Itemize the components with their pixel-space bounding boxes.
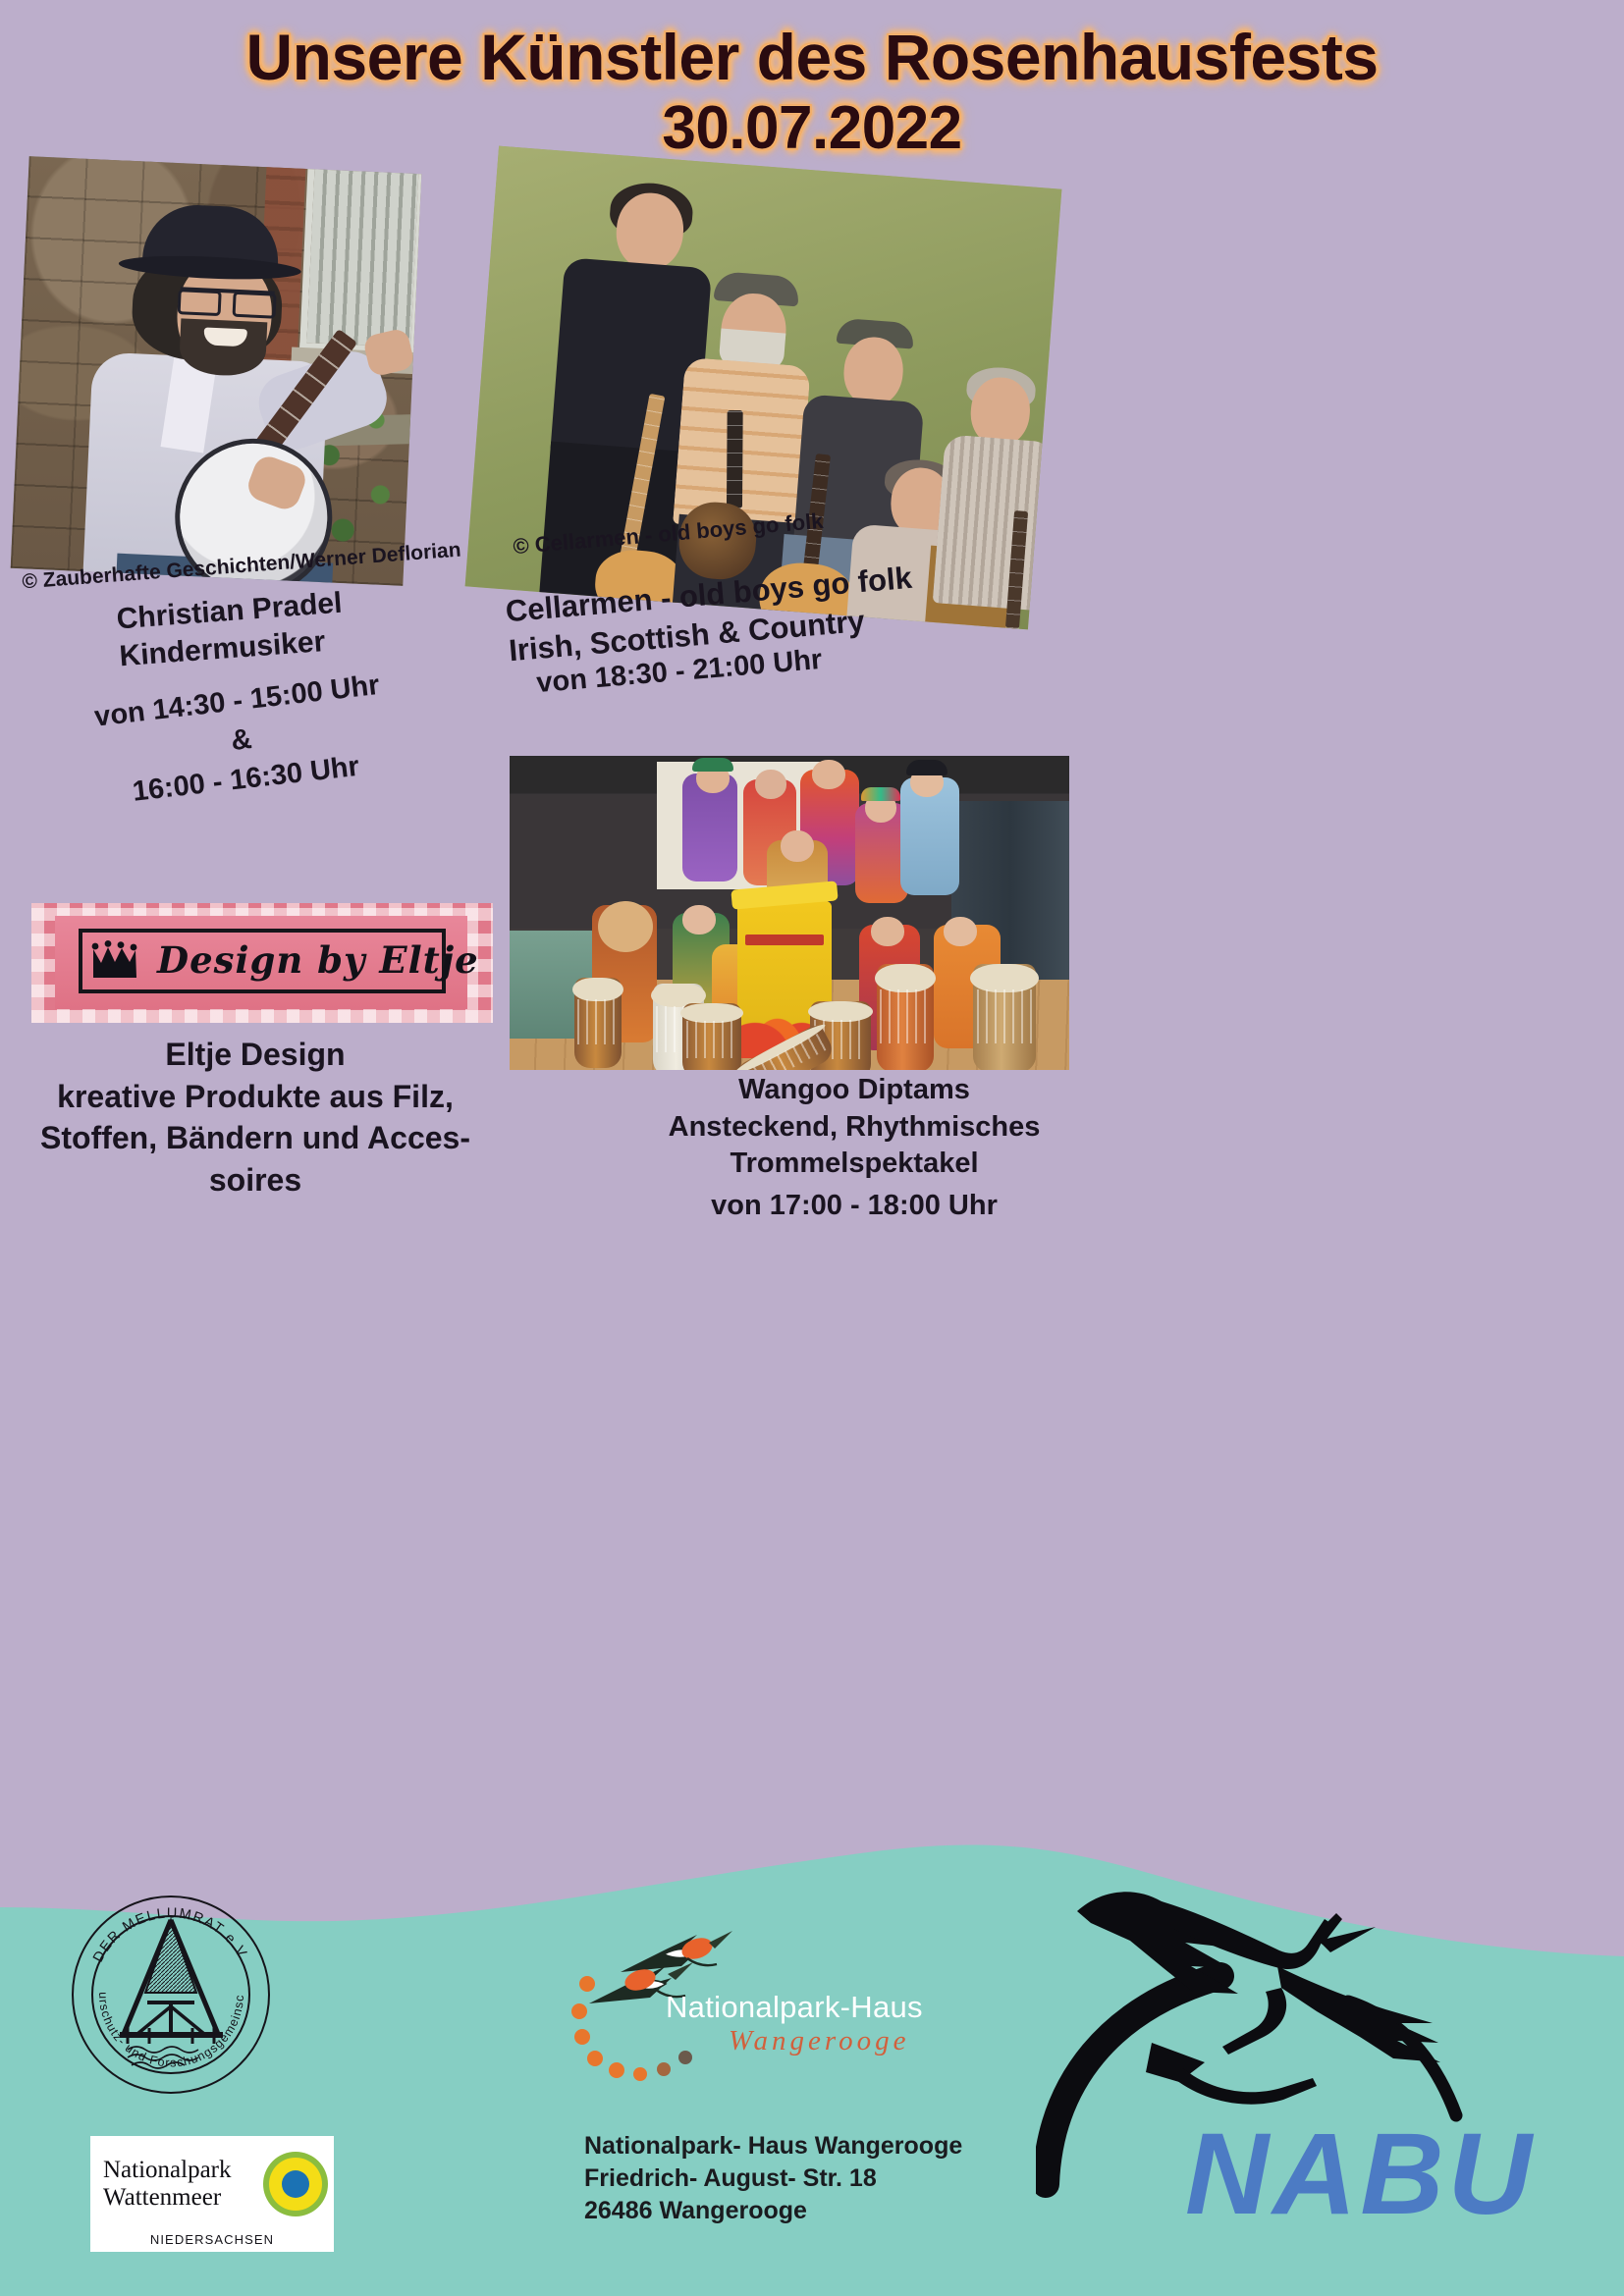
artist-name-christian-pradel: Christian PradelKindermusiker	[115, 585, 346, 676]
wattenmeer-name: Nationalpark Wattenmeer	[90, 2157, 232, 2212]
artist-name-wangoo-diptams: Wangoo DiptamsAnsteckend, Rhythmisches T…	[648, 1072, 1060, 1183]
performer-back-3-head	[812, 760, 845, 789]
musician-5-striped-shirt	[933, 434, 1056, 611]
artist-role-text: Ansteckend, Rhythmisches Trommelspektake…	[669, 1111, 1041, 1180]
artist-times-wangoo-diptams: von 17:00 - 18:00 Uhr	[648, 1190, 1060, 1222]
wattenmeer-emblem-core	[282, 2170, 309, 2198]
wattenmeer-emblem-icon	[263, 2152, 328, 2216]
artist-times-christian-pradel: von 14:30 - 15:00 Uhr & 16:00 - 16:30 Uh…	[92, 666, 390, 815]
performer-back-1-hat	[692, 758, 733, 772]
performer-front-1-hair	[598, 901, 653, 952]
artist-name-text: Wangoo Diptams	[738, 1074, 970, 1105]
logo-mellumrat: DER MELLUMRAT e.V. - Naturschutz- und Fo…	[71, 1895, 272, 2096]
nabu-wordmark: NABU	[1185, 2108, 1536, 2241]
poster-title: Unsere Künstler des Rosenhausfests 30.07…	[0, 22, 1624, 162]
djembe-1	[574, 978, 622, 1068]
conga-drum	[973, 964, 1036, 1070]
crown-icon	[90, 940, 147, 980]
photo-wangoo-diptams	[510, 756, 1069, 1070]
artist-name-eltje-design: Eltje Designkreative Produkte aus Filz, …	[20, 1034, 491, 1201]
performer-back-4-beanie	[861, 787, 900, 801]
window-shutters	[299, 163, 421, 354]
mandolin-neck	[727, 410, 743, 508]
logo-nabu: NABU	[1036, 1850, 1586, 2263]
nph-logo-line-2: Wangerooge	[729, 2025, 909, 2057]
page-title-line-1: Unsere Künstler des Rosenhausfests	[0, 22, 1624, 94]
oystercatcher-bird-icon-1	[621, 1931, 732, 1972]
footer-address: Nationalpark- Haus Wangerooge Friedrich-…	[584, 2130, 962, 2227]
photo-eltje-design-label: Design by Eltje	[31, 903, 493, 1023]
performer-back-5-beanie	[906, 760, 947, 775]
performer-mid-1-head	[781, 830, 814, 862]
glasses-icon	[180, 287, 275, 308]
stork-icon	[1077, 1892, 1440, 2104]
label-text: Design by Eltje	[157, 938, 479, 982]
performer-back-2-head	[755, 770, 786, 799]
bin-url-strip	[745, 934, 824, 945]
photo-christian-pradel	[11, 156, 422, 586]
performer-front-2-head	[682, 905, 716, 934]
performer-front-4-head	[871, 917, 904, 946]
page-title-date: 30.07.2022	[0, 94, 1624, 162]
djembe-5	[877, 964, 934, 1070]
wattenmeer-emblem-disc	[269, 2158, 322, 2211]
djembe-3	[682, 1003, 741, 1070]
logo-nationalpark-haus-wangerooge: Nationalpark-Haus Wangerooge	[550, 1919, 962, 2115]
nph-logo-line-1: Nationalpark-Haus	[666, 1990, 923, 2025]
wattenmeer-main-row: Nationalpark Wattenmeer	[90, 2136, 334, 2232]
photo-cellarmen	[465, 146, 1062, 630]
artist-name-text: Eltje Design	[165, 1037, 345, 1072]
wattenmeer-region: NIEDERSACHSEN	[90, 2232, 334, 2252]
logo-nationalpark-wattenmeer: Nationalpark Wattenmeer NIEDERSACHSEN	[90, 2136, 334, 2252]
artist-role-text: kreative Produkte aus Filz, Stoffen, Bän…	[40, 1079, 470, 1198]
performer-front-5-head	[944, 917, 977, 946]
